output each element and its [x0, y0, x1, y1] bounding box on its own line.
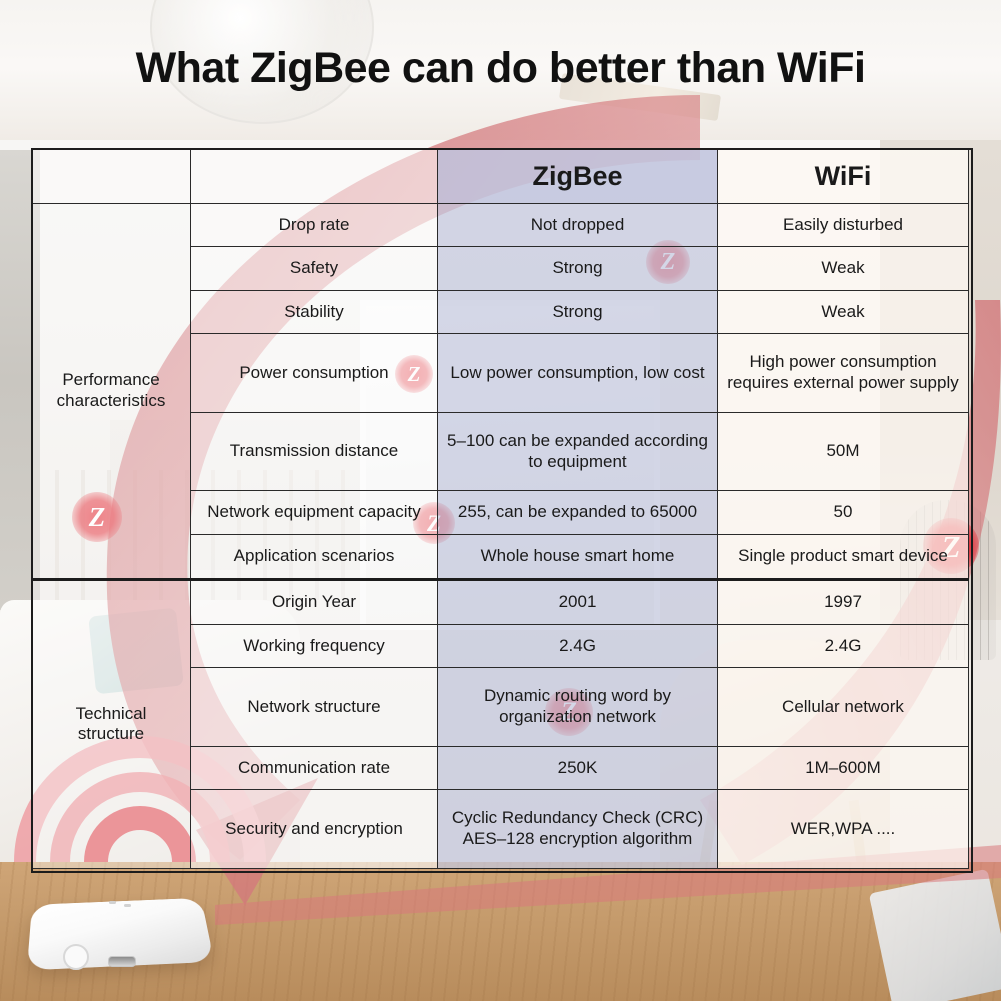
metric-label: Security and encryption	[191, 790, 438, 869]
gateway-usb-port-icon	[108, 956, 136, 967]
header-zigbee: ZigBee	[438, 149, 718, 204]
header-wifi: WiFi	[718, 149, 969, 204]
gateway-button-icon	[63, 944, 89, 970]
metric-label: Network structure	[191, 668, 438, 746]
wifi-value: WER,WPA ....	[718, 790, 969, 869]
metric-label: Power consumption	[191, 334, 438, 412]
wifi-value: Easily disturbed	[718, 204, 969, 247]
zigbee-value: Whole house smart home	[438, 534, 718, 579]
wifi-value: Weak	[718, 290, 969, 333]
table-header-row: ZigBeeWiFi	[32, 149, 969, 204]
gateway-led-icon	[124, 904, 131, 907]
zigbee-value: Low power consumption, low cost	[438, 334, 718, 412]
table-row: TechnicalstructureOrigin Year20011997	[32, 579, 969, 624]
wifi-value: 50	[718, 491, 969, 534]
wifi-value: High power consumption requires external…	[718, 334, 969, 412]
metric-label: Application scenarios	[191, 534, 438, 579]
zigbee-value: Strong	[438, 247, 718, 290]
metric-label: Transmission distance	[191, 412, 438, 490]
page-title: What ZigBee can do better than WiFi	[0, 44, 1001, 93]
zigbee-value: Not dropped	[438, 204, 718, 247]
metric-label: Drop rate	[191, 204, 438, 247]
floor-rug	[869, 869, 1001, 1001]
wifi-value: 50M	[718, 412, 969, 490]
zigbee-value: 255, can be expanded to 65000	[438, 491, 718, 534]
gateway-led-icon	[109, 901, 116, 904]
wifi-value: Single product smart device	[718, 534, 969, 579]
metric-label: Safety	[191, 247, 438, 290]
comparison-table-wrapper: ZigBeeWiFiPerformancecharacteristicsDrop…	[31, 148, 969, 869]
wifi-value: 1997	[718, 579, 969, 624]
wifi-value: Weak	[718, 247, 969, 290]
header-blank-group	[32, 149, 191, 204]
header-blank-metric	[191, 149, 438, 204]
row-group-label: Performancecharacteristics	[32, 204, 191, 580]
poster-canvas: Z Z Z Z Z Z What ZigBee can do better th…	[0, 0, 1001, 1001]
wifi-value: 2.4G	[718, 625, 969, 668]
zigbee-value: Strong	[438, 290, 718, 333]
zigbee-value: Dynamic routing word by organization net…	[438, 668, 718, 746]
zigbee-value: 2001	[438, 579, 718, 624]
row-group-label: Technicalstructure	[32, 579, 191, 868]
wifi-value: Cellular network	[718, 668, 969, 746]
zigbee-value: 5–100 can be expanded according to equip…	[438, 412, 718, 490]
zigbee-wifi-comparison-table: ZigBeeWiFiPerformancecharacteristicsDrop…	[31, 148, 969, 869]
wifi-value: 1M–600M	[718, 746, 969, 789]
metric-label: Origin Year	[191, 579, 438, 624]
zigbee-value: 2.4G	[438, 625, 718, 668]
zigbee-value: Cyclic Redundancy Check (CRC) AES–128 en…	[438, 790, 718, 869]
metric-label: Stability	[191, 290, 438, 333]
metric-label: Network equipment capacity	[191, 491, 438, 534]
metric-label: Communication rate	[191, 746, 438, 789]
metric-label: Working frequency	[191, 625, 438, 668]
table-row: PerformancecharacteristicsDrop rateNot d…	[32, 204, 969, 247]
zigbee-value: 250K	[438, 746, 718, 789]
